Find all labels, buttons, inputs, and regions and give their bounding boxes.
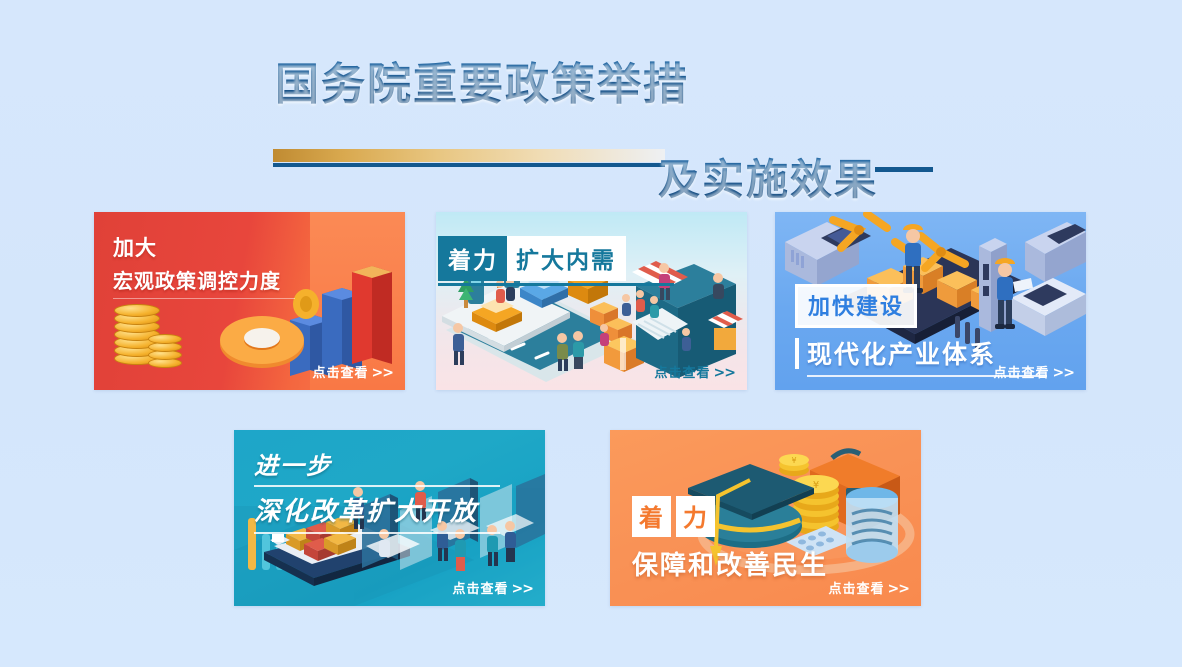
card-domestic-demand-cta[interactable]: 点击查看>>	[655, 362, 735, 381]
cta-label: 点击查看	[994, 366, 1050, 381]
card-reform-opening-rule-1	[254, 485, 500, 487]
card-livelihood-title-top-char-2: 力	[676, 496, 715, 537]
card-domestic-demand-label: 着力 扩大内需	[438, 236, 674, 286]
card-reform-opening-label: 进一步 深化改革扩大开放	[254, 446, 500, 534]
card-livelihood[interactable]: ¥ ¥	[610, 430, 921, 606]
page-root: 国务院重要政策举措 及实施效果	[0, 0, 1182, 667]
card-reform-opening-title-top: 进一步	[254, 446, 500, 481]
card-macro-policy-cta[interactable]: 点击查看>>	[313, 362, 393, 381]
title-gold-bar	[273, 149, 665, 162]
card-macro-policy-underline	[113, 298, 295, 299]
title-trailing-dash	[875, 167, 933, 172]
card-modern-industry-cta[interactable]: 点击查看>>	[994, 362, 1074, 381]
page-title-line-1: 国务院重要政策举措	[275, 48, 689, 112]
page-header: 国务院重要政策举措 及实施效果	[0, 48, 1182, 153]
chevron-right-icon: >>	[369, 365, 393, 381]
chevron-right-icon: >>	[711, 365, 735, 381]
cta-label: 点击查看	[655, 366, 711, 381]
card-macro-policy-title-main: 宏观政策调控力度	[113, 265, 295, 294]
card-livelihood-title-main: 保障和改善民生	[632, 545, 828, 582]
card-domestic-demand-title-top: 着力	[438, 236, 507, 281]
card-macro-policy-label: 加大 宏观政策调控力度	[113, 232, 295, 299]
card-livelihood-cta[interactable]: 点击查看>>	[829, 578, 909, 597]
card-modern-industry-title-main: 现代化产业体系	[807, 335, 996, 371]
cta-label: 点击查看	[453, 582, 509, 597]
card-macro-policy[interactable]: 加大 宏观政策调控力度 点击查看>>	[94, 212, 405, 390]
card-modern-industry[interactable]: 加快建设 现代化产业体系 点击查看>>	[775, 212, 1086, 390]
chevron-right-icon: >>	[1050, 365, 1074, 381]
card-reform-opening-cta[interactable]: 点击查看>>	[453, 578, 533, 597]
card-livelihood-title-top-char-1: 着	[632, 496, 671, 537]
chevron-right-icon: >>	[509, 581, 533, 597]
card-livelihood-label: 着力 保障和改善民生	[632, 496, 828, 582]
svg-text:¥: ¥	[791, 456, 796, 465]
page-title-line-2: 及实施效果	[658, 146, 878, 207]
card-domestic-demand-title-main: 扩大内需	[507, 236, 626, 281]
card-reform-opening[interactable]: 进一步 深化改革扩大开放 点击查看>>	[234, 430, 545, 606]
title-blue-rule	[273, 163, 665, 167]
card-macro-policy-title-top: 加大	[113, 232, 295, 262]
cta-label: 点击查看	[313, 366, 369, 381]
card-livelihood-title-top: 着力	[632, 496, 828, 537]
card-reform-opening-rule-2	[254, 532, 500, 534]
card-modern-industry-vbar	[795, 338, 799, 369]
card-domestic-demand-rule	[438, 283, 674, 286]
card-domestic-demand[interactable]: 着力 扩大内需 点击查看>>	[436, 212, 747, 390]
cta-label: 点击查看	[829, 582, 885, 597]
card-modern-industry-title-top: 加快建设	[795, 284, 917, 328]
card-reform-opening-title-main: 深化改革扩大开放	[254, 491, 500, 528]
chevron-right-icon: >>	[885, 581, 909, 597]
